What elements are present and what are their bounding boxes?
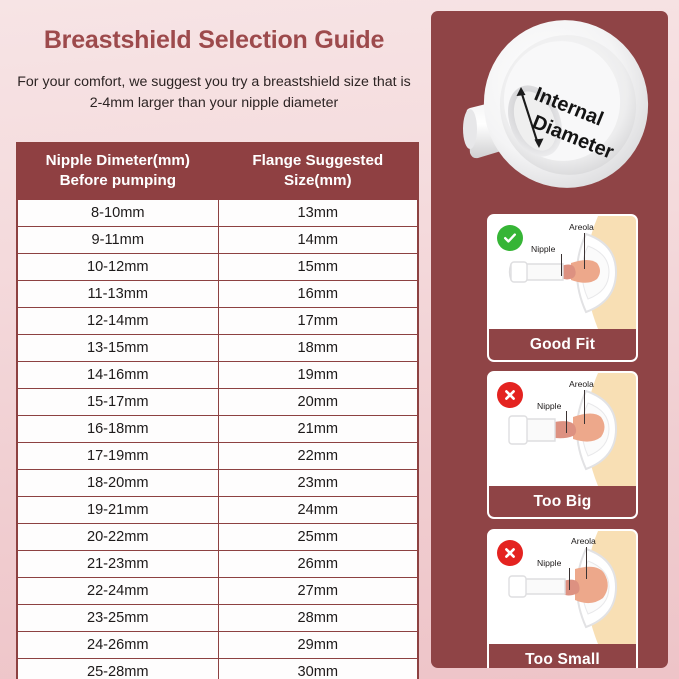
column-header-flange-size: Flange Suggested Size(mm) bbox=[218, 143, 418, 199]
areola-shape bbox=[573, 414, 605, 442]
table-row: 12-14mm17mm bbox=[17, 307, 418, 334]
cell-nipple-diameter: 24-26mm bbox=[17, 631, 218, 658]
column-header-nipple-diameter-line2: Before pumping bbox=[22, 171, 214, 191]
cell-nipple-diameter: 20-22mm bbox=[17, 523, 218, 550]
cell-flange-size: 13mm bbox=[218, 199, 418, 226]
fit-card-label-too-big: Too Big bbox=[489, 486, 636, 517]
good-fit-check-circle-icon bbox=[497, 225, 523, 251]
cell-flange-size: 29mm bbox=[218, 631, 418, 658]
column-header-flange-size-line1: Flange Suggested bbox=[223, 151, 413, 171]
table-body: 8-10mm13mm9-11mm14mm10-12mm15mm11-13mm16… bbox=[17, 199, 418, 679]
nipple-leader-line-too-big bbox=[566, 411, 567, 433]
areola-leader-line-too-small bbox=[586, 547, 587, 579]
cell-nipple-diameter: 15-17mm bbox=[17, 388, 218, 415]
table-row: 14-16mm19mm bbox=[17, 361, 418, 388]
breastshield-funnel-icon: Internal Diameter bbox=[431, 11, 668, 209]
cell-nipple-diameter: 11-13mm bbox=[17, 280, 218, 307]
cell-nipple-diameter: 23-25mm bbox=[17, 604, 218, 631]
nipple-leader-line-too-small bbox=[569, 568, 570, 590]
cell-flange-size: 20mm bbox=[218, 388, 418, 415]
table-header: Nipple Dimeter(mm) Before pumping Flange… bbox=[17, 143, 418, 199]
cell-flange-size: 19mm bbox=[218, 361, 418, 388]
table-row: 25-28mm30mm bbox=[17, 658, 418, 679]
table-row: 23-25mm28mm bbox=[17, 604, 418, 631]
guide-left-column: Breastshield Selection Guide For your co… bbox=[0, 0, 428, 679]
table-row: 19-21mm24mm bbox=[17, 496, 418, 523]
fit-card-too-small: Nipple Areola Too Small bbox=[487, 529, 638, 668]
size-chart-table: Nipple Dimeter(mm) Before pumping Flange… bbox=[16, 142, 419, 679]
table-row: 21-23mm26mm bbox=[17, 550, 418, 577]
nipple-leader-line-good-fit bbox=[561, 254, 562, 276]
fit-card-too-big: Nipple Areola Too Big bbox=[487, 371, 638, 519]
table-row: 15-17mm20mm bbox=[17, 388, 418, 415]
too-big-x-circle-icon bbox=[497, 382, 523, 408]
cell-flange-size: 26mm bbox=[218, 550, 418, 577]
nipple-label-good-fit: Nipple bbox=[531, 244, 555, 254]
nipple-label-too-small: Nipple bbox=[537, 558, 561, 568]
table-row: 8-10mm13mm bbox=[17, 199, 418, 226]
cell-flange-size: 22mm bbox=[218, 442, 418, 469]
cell-flange-size: 14mm bbox=[218, 226, 418, 253]
cell-nipple-diameter: 13-15mm bbox=[17, 334, 218, 361]
cell-flange-size: 17mm bbox=[218, 307, 418, 334]
cell-flange-size: 28mm bbox=[218, 604, 418, 631]
cell-nipple-diameter: 22-24mm bbox=[17, 577, 218, 604]
cell-nipple-diameter: 21-23mm bbox=[17, 550, 218, 577]
table-row: 16-18mm21mm bbox=[17, 415, 418, 442]
areola-leader-line-good-fit bbox=[584, 233, 585, 269]
cell-nipple-diameter: 19-21mm bbox=[17, 496, 218, 523]
table-row: 13-15mm18mm bbox=[17, 334, 418, 361]
cell-nipple-diameter: 9-11mm bbox=[17, 226, 218, 253]
cell-nipple-diameter: 18-20mm bbox=[17, 469, 218, 496]
breastshield-funnel-illustration: Internal Diameter bbox=[431, 11, 668, 209]
page-title: Breastshield Selection Guide bbox=[0, 26, 428, 55]
fit-card-label-good-fit: Good Fit bbox=[489, 329, 636, 360]
areola-leader-line-too-big bbox=[584, 390, 585, 424]
fit-illustration-good-fit: Nipple Areola bbox=[489, 216, 636, 329]
illustration-panel: Internal Diameter N bbox=[431, 11, 668, 668]
cell-flange-size: 15mm bbox=[218, 253, 418, 280]
areola-label-too-small: Areola bbox=[571, 536, 596, 546]
column-header-nipple-diameter-line1: Nipple Dimeter(mm) bbox=[22, 151, 214, 171]
cell-flange-size: 23mm bbox=[218, 469, 418, 496]
cell-nipple-diameter: 8-10mm bbox=[17, 199, 218, 226]
cell-flange-size: 21mm bbox=[218, 415, 418, 442]
cell-flange-size: 30mm bbox=[218, 658, 418, 679]
table-row: 17-19mm22mm bbox=[17, 442, 418, 469]
fit-card-good-fit: Nipple Areola Good Fit bbox=[487, 214, 638, 362]
table-row: 20-22mm25mm bbox=[17, 523, 418, 550]
table-row: 9-11mm14mm bbox=[17, 226, 418, 253]
cell-nipple-diameter: 14-16mm bbox=[17, 361, 218, 388]
cell-flange-size: 24mm bbox=[218, 496, 418, 523]
cell-nipple-diameter: 25-28mm bbox=[17, 658, 218, 679]
fit-illustration-too-small: Nipple Areola bbox=[489, 531, 636, 644]
cell-nipple-diameter: 17-19mm bbox=[17, 442, 218, 469]
cell-flange-size: 18mm bbox=[218, 334, 418, 361]
too-small-x-circle-icon bbox=[497, 540, 523, 566]
areola-label-good-fit: Areola bbox=[569, 222, 594, 232]
cell-flange-size: 25mm bbox=[218, 523, 418, 550]
table-row: 24-26mm29mm bbox=[17, 631, 418, 658]
cell-nipple-diameter: 12-14mm bbox=[17, 307, 218, 334]
cell-flange-size: 16mm bbox=[218, 280, 418, 307]
table-row: 18-20mm23mm bbox=[17, 469, 418, 496]
cell-nipple-diameter: 16-18mm bbox=[17, 415, 218, 442]
areola-shape bbox=[575, 567, 608, 603]
fit-card-label-too-small: Too Small bbox=[489, 644, 636, 668]
table-row: 10-12mm15mm bbox=[17, 253, 418, 280]
areola-label-too-big: Areola bbox=[569, 379, 594, 389]
infographic-root: Breastshield Selection Guide For your co… bbox=[0, 0, 679, 679]
cell-nipple-diameter: 10-12mm bbox=[17, 253, 218, 280]
table-header-row: Nipple Dimeter(mm) Before pumping Flange… bbox=[17, 143, 418, 199]
table-row: 11-13mm16mm bbox=[17, 280, 418, 307]
cell-flange-size: 27mm bbox=[218, 577, 418, 604]
column-header-nipple-diameter: Nipple Dimeter(mm) Before pumping bbox=[17, 143, 218, 199]
table-row: 22-24mm27mm bbox=[17, 577, 418, 604]
fit-illustration-too-big: Nipple Areola bbox=[489, 373, 636, 486]
nipple-label-too-big: Nipple bbox=[537, 401, 561, 411]
page-subtitle: For your comfort, we suggest you try a b… bbox=[14, 72, 414, 113]
column-header-flange-size-line2: Size(mm) bbox=[223, 171, 413, 191]
